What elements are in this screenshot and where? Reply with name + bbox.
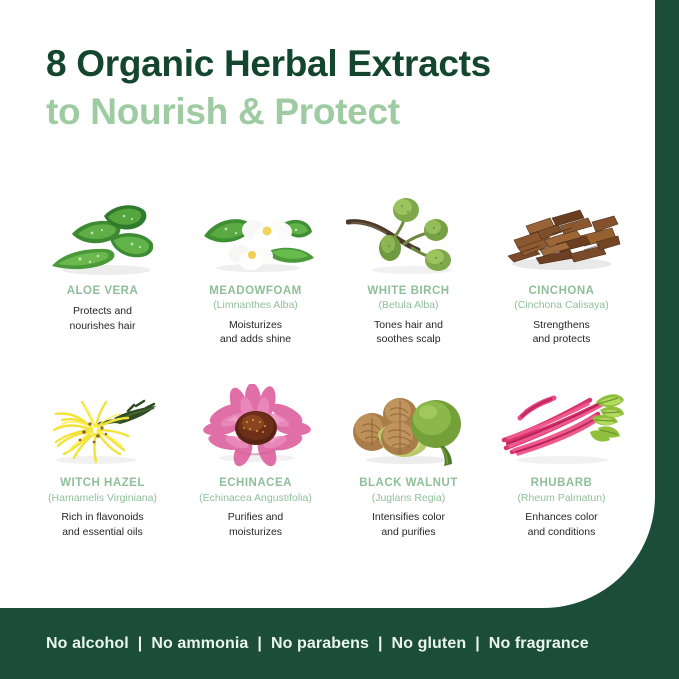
ingredient-description: Protects and nourishes hair [70,304,136,332]
claim-separator: | [257,635,262,653]
ingredient-name: WITCH HAZEL [60,476,145,490]
page-title: 8 Organic Herbal Extracts to Nourish & P… [46,42,491,133]
ingredient-name: ECHINACEA [219,476,292,490]
ingredient-latin-name: (Echinacea Angustifolia) [199,492,312,506]
infographic-poster: 8 Organic Herbal Extracts to Nourish & P… [0,0,679,679]
claims-list: No alcohol | No ammonia | No parabens | … [46,635,589,653]
ingredient-description: Strengthens and protects [533,318,591,346]
ingredient-description: Tones hair and soothes scalp [374,318,443,346]
claim-separator: | [138,635,143,653]
rhubarb-stalks-icon [496,384,628,470]
ingredient-card-black-walnut: BLACK WALNUT (Juglans Regia) Intensifies… [332,384,485,538]
claim-item: No alcohol [46,635,129,653]
ingredient-card-witch-hazel: WITCH HAZEL (Hamamelis Virginiana) Rich … [26,384,179,538]
ingredient-name: WHITE BIRCH [367,284,449,298]
ingredient-card-echinacea: ECHINACEA (Echinacea Angustifolia) Purif… [179,384,332,538]
title-line-secondary: to Nourish & Protect [46,90,491,134]
claim-separator: | [378,635,383,653]
ingredient-name: ALOE VERA [67,284,139,298]
ingredient-latin-name: (Cinchona Calisaya) [514,299,609,313]
cinchona-bark-icon [496,192,628,278]
white-birch-branch-icon [343,192,475,278]
ingredient-name: MEADOWFOAM [209,284,302,298]
meadowfoam-flower-icon [190,192,322,278]
ingredient-name: BLACK WALNUT [359,476,458,490]
witch-hazel-flower-icon [37,384,169,470]
claim-item: No fragrance [489,635,589,653]
aloe-vera-icon [37,192,169,278]
claims-footer: No alcohol | No ammonia | No parabens | … [0,608,679,679]
claim-item: No ammonia [151,635,248,653]
ingredient-latin-name: (Betula Alba) [378,299,438,313]
claim-item: No parabens [271,635,369,653]
ingredient-description: Enhances color and conditions [525,510,597,538]
ingredient-card-white-birch: WHITE BIRCH (Betula Alba) Tones hair and… [332,192,485,346]
ingredient-latin-name: (Hamamelis Virginiana) [48,492,157,506]
echinacea-flower-icon [190,384,322,470]
ingredient-latin-name: (Limnanthes Alba) [213,299,298,313]
ingredient-latin-name: (Juglans Regia) [372,492,446,506]
ingredient-card-rhubarb: RHUBARB (Rheum Palmatun) Enhances color … [485,384,638,538]
ingredient-card-meadowfoam: MEADOWFOAM (Limnanthes Alba) Moisturizes… [179,192,332,346]
ingredient-description: Rich in flavonoids and essential oils [61,510,143,538]
ingredient-description: Intensifies color and purifies [372,510,445,538]
claim-item: No gluten [392,635,467,653]
black-walnut-icon [343,384,475,470]
ingredient-description: Moisturizes and adds shine [220,318,291,346]
ingredient-card-cinchona: CINCHONA (Cinchona Calisaya) Strengthens… [485,192,638,346]
ingredient-description: Purifies and moisturizes [228,510,283,538]
ingredient-latin-name: (Rheum Palmatun) [517,492,605,506]
title-line-primary: 8 Organic Herbal Extracts [46,42,491,86]
ingredient-name: RHUBARB [531,476,593,490]
ingredient-grid: ALOE VERA Protects and nourishes hair [26,192,638,577]
claim-separator: | [475,635,480,653]
ingredient-card-aloe-vera: ALOE VERA Protects and nourishes hair [26,192,179,346]
ingredient-name: CINCHONA [529,284,595,298]
